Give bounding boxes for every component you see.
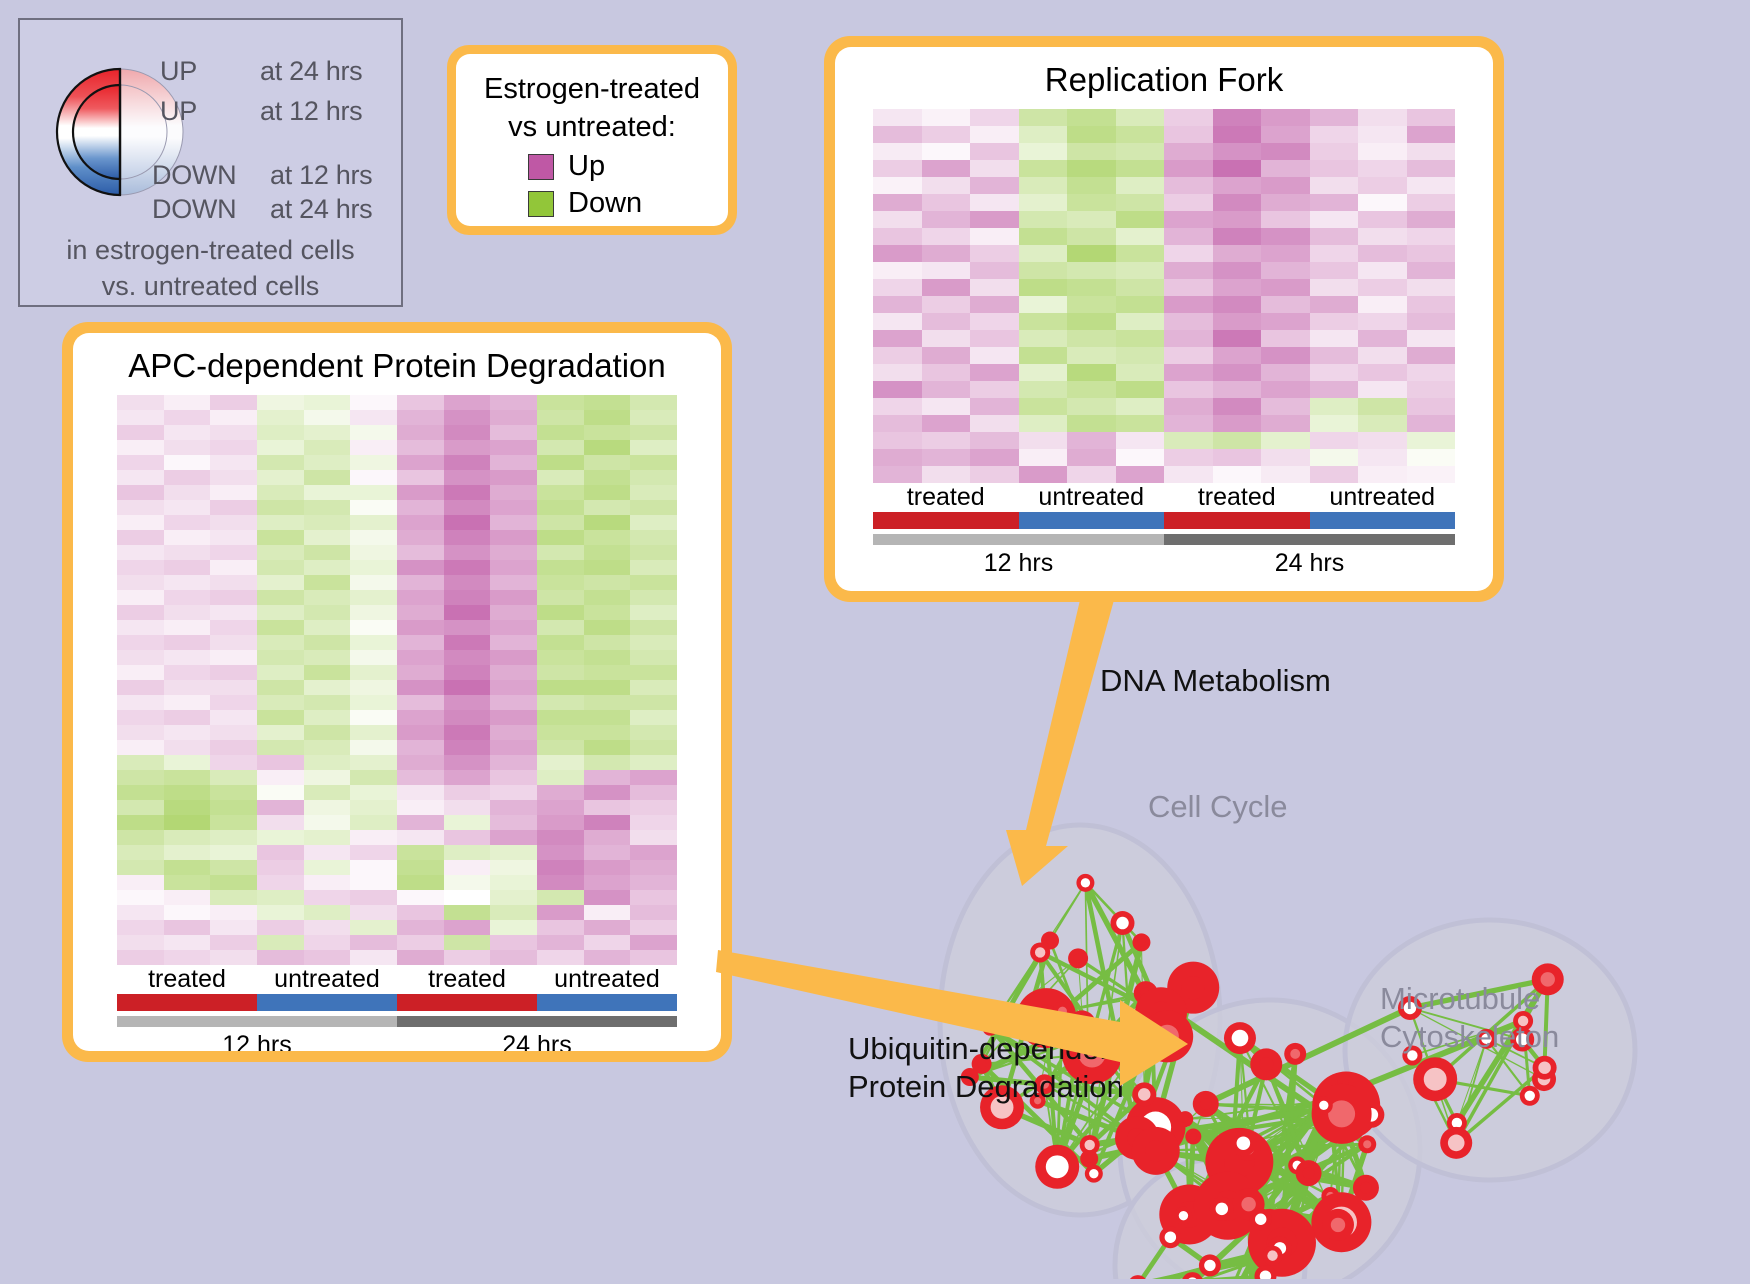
heatmap-cell bbox=[304, 665, 351, 680]
heatmap-cell bbox=[257, 935, 304, 950]
heatmap-cell bbox=[922, 415, 971, 432]
ring-row-3-time: at 24 hrs bbox=[270, 194, 372, 225]
ring-caption-line2: vs. untreated cells bbox=[20, 268, 401, 304]
heatmap-cell bbox=[304, 830, 351, 845]
heatmap-cell bbox=[1261, 347, 1310, 364]
heatmap-cell bbox=[630, 470, 677, 485]
heatmap-cell bbox=[1358, 364, 1407, 381]
heatmap-cell bbox=[1407, 466, 1456, 483]
heatmap-cell bbox=[210, 830, 257, 845]
network-node[interactable] bbox=[1076, 874, 1094, 892]
heatmap-cell bbox=[1164, 466, 1213, 483]
heatmap-cell bbox=[922, 364, 971, 381]
heatmap-cell bbox=[164, 410, 211, 425]
network-node[interactable] bbox=[1358, 1135, 1376, 1153]
heatmap-cell bbox=[1019, 449, 1068, 466]
heatmap-cell bbox=[490, 740, 537, 755]
heatmap-cell bbox=[1310, 330, 1359, 347]
heatmap-cell bbox=[117, 950, 164, 965]
heatmap-cell bbox=[873, 415, 922, 432]
heatmap-cell bbox=[1358, 211, 1407, 228]
heatmap-cell bbox=[1067, 126, 1116, 143]
ring-row-3-label: DOWN bbox=[152, 194, 236, 225]
heatmap-cell bbox=[117, 755, 164, 770]
heatmap-cell bbox=[257, 500, 304, 515]
heatmap-cell bbox=[970, 211, 1019, 228]
heatmap-cell bbox=[1358, 296, 1407, 313]
heatmap-cell bbox=[490, 530, 537, 545]
heatmap-cell bbox=[210, 620, 257, 635]
heatmap-cell bbox=[164, 650, 211, 665]
network-node[interactable] bbox=[1177, 1111, 1193, 1127]
heatmap-cell bbox=[397, 410, 444, 425]
heatmap-cell bbox=[444, 560, 491, 575]
heatmap-cell bbox=[1067, 347, 1116, 364]
heatmap-cell bbox=[397, 425, 444, 440]
heatmap-cell bbox=[1213, 194, 1262, 211]
heatmap-cell bbox=[1310, 381, 1359, 398]
heatmap-cell bbox=[257, 530, 304, 545]
heatmap-cell bbox=[304, 875, 351, 890]
heatmap-cell bbox=[1358, 330, 1407, 347]
heatmap-cell bbox=[444, 395, 491, 410]
heatmap-cell bbox=[537, 545, 584, 560]
figure-canvas: UP at 24 hrs UP at 12 hrs DOWN at 12 hrs… bbox=[0, 0, 1750, 1279]
heatmap-cell bbox=[257, 575, 304, 590]
heatmap-cell bbox=[164, 815, 211, 830]
network-node[interactable] bbox=[1315, 1096, 1333, 1114]
heatmap-cell bbox=[210, 770, 257, 785]
heatmap-cell bbox=[117, 710, 164, 725]
heatmap-cell bbox=[1310, 109, 1359, 126]
heatmap-cell bbox=[1019, 228, 1068, 245]
heatmap-cell bbox=[1310, 364, 1359, 381]
network-node[interactable] bbox=[1533, 1056, 1557, 1080]
panel-apc-degradation: APC-dependent Protein Degradation treate… bbox=[62, 322, 732, 1062]
heatmap-cell bbox=[922, 279, 971, 296]
heatmap-cell bbox=[210, 515, 257, 530]
heatmap-cell bbox=[1164, 109, 1213, 126]
heatmap-cell bbox=[304, 815, 351, 830]
heatmap-cell bbox=[970, 177, 1019, 194]
network-node[interactable] bbox=[1440, 1127, 1472, 1159]
heatmap-cell bbox=[304, 770, 351, 785]
heatmap-cell bbox=[1213, 262, 1262, 279]
heatmap-cell bbox=[1407, 432, 1456, 449]
heatmap-cell bbox=[1067, 109, 1116, 126]
heatmap-cell bbox=[164, 470, 211, 485]
heatmap-cell bbox=[1116, 245, 1165, 262]
heatmap-cell bbox=[922, 228, 971, 245]
heatmap-cell bbox=[210, 650, 257, 665]
heatmap-cell bbox=[537, 590, 584, 605]
heatmap-cell bbox=[1116, 228, 1165, 245]
heatmap-cell bbox=[1164, 279, 1213, 296]
heatmap-cell bbox=[350, 545, 397, 560]
heatmap-cell bbox=[1019, 177, 1068, 194]
heatmap-cell bbox=[630, 815, 677, 830]
heatmap-cell bbox=[1407, 194, 1456, 211]
heatmap-cell bbox=[350, 665, 397, 680]
network-node[interactable] bbox=[1030, 942, 1050, 962]
heatmap-cell bbox=[1261, 177, 1310, 194]
heatmap-cell bbox=[630, 545, 677, 560]
heatmap-cell bbox=[1067, 449, 1116, 466]
condition-label: untreated bbox=[1019, 483, 1165, 512]
heatmap-cell bbox=[1407, 347, 1456, 364]
network-node[interactable] bbox=[1141, 1010, 1193, 1062]
heatmap-cell bbox=[444, 875, 491, 890]
heatmap-cell bbox=[584, 560, 631, 575]
heatmap-cell bbox=[1116, 143, 1165, 160]
heatmap-cell bbox=[304, 845, 351, 860]
heatmap-cell bbox=[490, 545, 537, 560]
heatmap-cell bbox=[537, 500, 584, 515]
network-node[interactable] bbox=[1068, 948, 1088, 968]
heatmap-cell bbox=[117, 560, 164, 575]
heatmap-cell bbox=[1310, 279, 1359, 296]
heatmap-cell bbox=[584, 815, 631, 830]
panel-replication-fork: Replication Fork treateduntreatedtreated… bbox=[824, 36, 1504, 602]
updown-title-line1: Estrogen-treated bbox=[456, 70, 728, 108]
heatmap-cell bbox=[304, 800, 351, 815]
heatmap-cell bbox=[1067, 466, 1116, 483]
heatmap-cell bbox=[1116, 126, 1165, 143]
heatmap-cell bbox=[630, 740, 677, 755]
heatmap-cell bbox=[630, 455, 677, 470]
up-color-swatch bbox=[528, 154, 554, 180]
heatmap-cell bbox=[537, 950, 584, 965]
network-node[interactable] bbox=[1110, 911, 1134, 935]
heatmap-cell bbox=[350, 605, 397, 620]
network-node[interactable] bbox=[1230, 1130, 1256, 1156]
heatmap-cell bbox=[304, 755, 351, 770]
heatmap-cell bbox=[350, 710, 397, 725]
heatmap-cell bbox=[1116, 330, 1165, 347]
heatmap-cell bbox=[397, 875, 444, 890]
heatmap-cell bbox=[350, 620, 397, 635]
heatmap-cell bbox=[210, 500, 257, 515]
heatmap-cell bbox=[444, 500, 491, 515]
heatmap-cell bbox=[117, 650, 164, 665]
down-label: Down bbox=[568, 187, 642, 220]
heatmap-cell bbox=[584, 740, 631, 755]
heatmap-cell bbox=[922, 466, 971, 483]
heatmap-cell bbox=[490, 770, 537, 785]
time-color-bar bbox=[117, 1016, 677, 1027]
heatmap-cell bbox=[1358, 466, 1407, 483]
network-node[interactable] bbox=[1296, 1160, 1322, 1186]
heatmap-cell bbox=[117, 830, 164, 845]
heatmap-cell bbox=[397, 845, 444, 860]
heatmap-cell bbox=[970, 449, 1019, 466]
heatmap-cell bbox=[922, 398, 971, 415]
heatmap-cell bbox=[444, 710, 491, 725]
heatmap-cell bbox=[444, 590, 491, 605]
network-node[interactable] bbox=[1193, 1091, 1219, 1117]
heatmap-cell bbox=[210, 815, 257, 830]
condition-color-bar bbox=[117, 994, 677, 1011]
heatmap-cell bbox=[1116, 449, 1165, 466]
heatmap-cell bbox=[1213, 296, 1262, 313]
heatmap-cell bbox=[1310, 313, 1359, 330]
heatmap-cell bbox=[537, 725, 584, 740]
heatmap-cell bbox=[584, 710, 631, 725]
heatmap-cell bbox=[257, 875, 304, 890]
heatmap-cell bbox=[537, 395, 584, 410]
heatmap-cell bbox=[210, 785, 257, 800]
heatmap-cell bbox=[490, 590, 537, 605]
heatmap-cell bbox=[630, 950, 677, 965]
network-node[interactable] bbox=[1312, 1084, 1372, 1144]
heatmap-cell bbox=[630, 560, 677, 575]
heatmap-cell bbox=[1310, 194, 1359, 211]
heatmap-cell bbox=[350, 680, 397, 695]
heatmap-cell bbox=[1261, 194, 1310, 211]
heatmap-cell bbox=[117, 410, 164, 425]
heatmap-cell bbox=[210, 710, 257, 725]
heatmap-cell bbox=[164, 485, 211, 500]
heatmap-cell bbox=[304, 470, 351, 485]
network-node[interactable] bbox=[1132, 1127, 1180, 1175]
heatmap-cell bbox=[1358, 313, 1407, 330]
network-node[interactable] bbox=[1132, 1082, 1156, 1106]
heatmap-cell bbox=[630, 920, 677, 935]
replication-fork-title: Replication Fork bbox=[835, 47, 1493, 99]
heatmap-cell bbox=[1067, 415, 1116, 432]
heatmap-cell bbox=[1261, 228, 1310, 245]
heatmap-cell bbox=[444, 650, 491, 665]
heatmap-cell bbox=[1407, 313, 1456, 330]
heatmap-cell bbox=[537, 605, 584, 620]
heatmap-cell bbox=[873, 330, 922, 347]
heatmap-cell bbox=[537, 770, 584, 785]
heatmap-cell bbox=[873, 143, 922, 160]
heatmap-cell bbox=[630, 905, 677, 920]
heatmap-cell bbox=[117, 935, 164, 950]
network-node[interactable] bbox=[1250, 1048, 1282, 1080]
heatmap-cell bbox=[1358, 126, 1407, 143]
heatmap-cell bbox=[1116, 415, 1165, 432]
heatmap-cell bbox=[490, 875, 537, 890]
heatmap-cell bbox=[1358, 245, 1407, 262]
ring-row-2-label: DOWN bbox=[152, 160, 236, 191]
heatmap-cell bbox=[304, 935, 351, 950]
heatmap-cell bbox=[444, 440, 491, 455]
heatmap-cell bbox=[1213, 109, 1262, 126]
heatmap-cell bbox=[350, 740, 397, 755]
network-node[interactable] bbox=[1132, 933, 1150, 951]
heatmap-cell bbox=[1310, 245, 1359, 262]
heatmap-cell bbox=[630, 770, 677, 785]
heatmap-cell bbox=[1164, 330, 1213, 347]
network-node[interactable] bbox=[1520, 1086, 1540, 1106]
ring-row-1-label: UP bbox=[160, 96, 197, 127]
heatmap-cell bbox=[164, 590, 211, 605]
heatmap-cell bbox=[444, 740, 491, 755]
heatmap-cell bbox=[304, 920, 351, 935]
heatmap-cell bbox=[397, 485, 444, 500]
heatmap-cell bbox=[1067, 330, 1116, 347]
heatmap-cell bbox=[537, 740, 584, 755]
heatmap-cell bbox=[873, 296, 922, 313]
heatmap-cell bbox=[397, 860, 444, 875]
heatmap-cell bbox=[444, 665, 491, 680]
heatmap-cell bbox=[970, 398, 1019, 415]
heatmap-cell bbox=[444, 485, 491, 500]
heatmap-cell bbox=[1019, 432, 1068, 449]
network-node[interactable] bbox=[1174, 1207, 1192, 1225]
heatmap-cell bbox=[630, 500, 677, 515]
heatmap-cell bbox=[257, 515, 304, 530]
heatmap-cell bbox=[970, 415, 1019, 432]
network-node[interactable] bbox=[1224, 1022, 1256, 1054]
heatmap-cell bbox=[630, 440, 677, 455]
heatmap-cell bbox=[537, 485, 584, 500]
heatmap-cell bbox=[537, 710, 584, 725]
heatmap-cell bbox=[1116, 109, 1165, 126]
heatmap-cell bbox=[584, 860, 631, 875]
heatmap-cell bbox=[257, 710, 304, 725]
heatmap-cell bbox=[584, 905, 631, 920]
heatmap-cell bbox=[922, 143, 971, 160]
heatmap-cell bbox=[210, 875, 257, 890]
heatmap-cell bbox=[210, 440, 257, 455]
heatmap-cell bbox=[584, 545, 631, 560]
heatmap-cell bbox=[490, 785, 537, 800]
heatmap-cell bbox=[873, 347, 922, 364]
heatmap-cell bbox=[1213, 381, 1262, 398]
updown-color-legend: Estrogen-treated vs untreated: Up Down bbox=[447, 45, 737, 235]
heatmap-cell bbox=[537, 845, 584, 860]
heatmap-cell bbox=[304, 455, 351, 470]
network-node[interactable] bbox=[1322, 1209, 1354, 1241]
network-node[interactable] bbox=[1159, 1226, 1181, 1248]
heatmap-cell bbox=[257, 740, 304, 755]
heatmap-cell bbox=[1019, 194, 1068, 211]
condition-segment-3 bbox=[1310, 512, 1456, 529]
heatmap-cell bbox=[1407, 415, 1456, 432]
heatmap-cell bbox=[164, 695, 211, 710]
heatmap-cell bbox=[584, 470, 631, 485]
heatmap-cell bbox=[1358, 449, 1407, 466]
heatmap-cell bbox=[1019, 126, 1068, 143]
condition-label: untreated bbox=[537, 965, 677, 994]
heatmap-cell bbox=[1019, 296, 1068, 313]
heatmap-cell bbox=[584, 890, 631, 905]
heatmap-cell bbox=[117, 545, 164, 560]
heatmap-cell bbox=[350, 800, 397, 815]
heatmap-cell bbox=[1067, 364, 1116, 381]
heatmap-cell bbox=[1407, 262, 1456, 279]
heatmap-cell bbox=[164, 920, 211, 935]
heatmap-cell bbox=[257, 425, 304, 440]
heatmap-cell bbox=[164, 395, 211, 410]
updown-title-line2: vs untreated: bbox=[456, 108, 728, 146]
heatmap-cell bbox=[1116, 466, 1165, 483]
heatmap-cell bbox=[922, 126, 971, 143]
heatmap-cell bbox=[210, 935, 257, 950]
heatmap-cell bbox=[1261, 432, 1310, 449]
heatmap-cell bbox=[630, 665, 677, 680]
heatmap-cell bbox=[490, 950, 537, 965]
heatmap-cell bbox=[397, 680, 444, 695]
network-node[interactable] bbox=[1284, 1043, 1306, 1065]
condition-segment-1 bbox=[257, 994, 397, 1011]
heatmap-cell bbox=[584, 455, 631, 470]
condition-label: treated bbox=[873, 483, 1019, 512]
heatmap-cell bbox=[1407, 245, 1456, 262]
network-node[interactable] bbox=[1085, 1165, 1103, 1183]
heatmap-cell bbox=[537, 665, 584, 680]
heatmap-cell bbox=[444, 620, 491, 635]
heatmap-cell bbox=[970, 330, 1019, 347]
apc-heatmap bbox=[117, 395, 677, 965]
network-node[interactable] bbox=[1035, 1145, 1079, 1189]
heatmap-cell bbox=[164, 500, 211, 515]
network-node[interactable] bbox=[1210, 1197, 1234, 1221]
network-node[interactable] bbox=[1413, 1057, 1457, 1101]
heatmap-cell bbox=[397, 695, 444, 710]
network-node[interactable] bbox=[1185, 1129, 1201, 1145]
network-node[interactable] bbox=[1080, 1135, 1100, 1155]
heatmap-cell bbox=[630, 755, 677, 770]
heatmap-cell bbox=[257, 410, 304, 425]
heatmap-cell bbox=[1019, 245, 1068, 262]
heatmap-cell bbox=[257, 770, 304, 785]
heatmap-cell bbox=[1213, 143, 1262, 160]
heatmap-cell bbox=[444, 635, 491, 650]
heatmap-cell bbox=[584, 440, 631, 455]
heatmap-cell bbox=[257, 470, 304, 485]
heatmap-cell bbox=[117, 620, 164, 635]
heatmap-cell bbox=[164, 755, 211, 770]
heatmap-cell bbox=[1310, 398, 1359, 415]
network-node[interactable] bbox=[1250, 1208, 1272, 1230]
heatmap-cell bbox=[1067, 143, 1116, 160]
heatmap-cell bbox=[537, 695, 584, 710]
heatmap-cell bbox=[257, 620, 304, 635]
heatmap-cell bbox=[210, 695, 257, 710]
network-node[interactable] bbox=[1199, 1254, 1221, 1276]
network-node[interactable] bbox=[1263, 1246, 1283, 1266]
heatmap-cell bbox=[490, 575, 537, 590]
heatmap-cell bbox=[1358, 415, 1407, 432]
heatmap-cell bbox=[490, 410, 537, 425]
heatmap-cell bbox=[1310, 466, 1359, 483]
heatmap-cell bbox=[970, 143, 1019, 160]
heatmap-cell bbox=[584, 635, 631, 650]
heatmap-cell bbox=[630, 845, 677, 860]
heatmap-cell bbox=[397, 455, 444, 470]
heatmap-cell bbox=[630, 575, 677, 590]
heatmap-cell bbox=[117, 875, 164, 890]
heatmap-cell bbox=[304, 440, 351, 455]
heatmap-cell bbox=[210, 605, 257, 620]
heatmap-cell bbox=[117, 770, 164, 785]
heatmap-cell bbox=[1067, 398, 1116, 415]
replication-fork-axis: treateduntreatedtreateduntreated 12 hrs2… bbox=[873, 483, 1455, 578]
heatmap-cell bbox=[164, 560, 211, 575]
heatmap-cell bbox=[490, 845, 537, 860]
heatmap-cell bbox=[1358, 160, 1407, 177]
network-node[interactable] bbox=[1043, 1011, 1063, 1031]
heatmap-cell bbox=[164, 875, 211, 890]
heatmap-cell bbox=[304, 635, 351, 650]
heatmap-cell bbox=[1407, 211, 1456, 228]
heatmap-cell bbox=[1067, 279, 1116, 296]
heatmap-cell bbox=[1310, 160, 1359, 177]
